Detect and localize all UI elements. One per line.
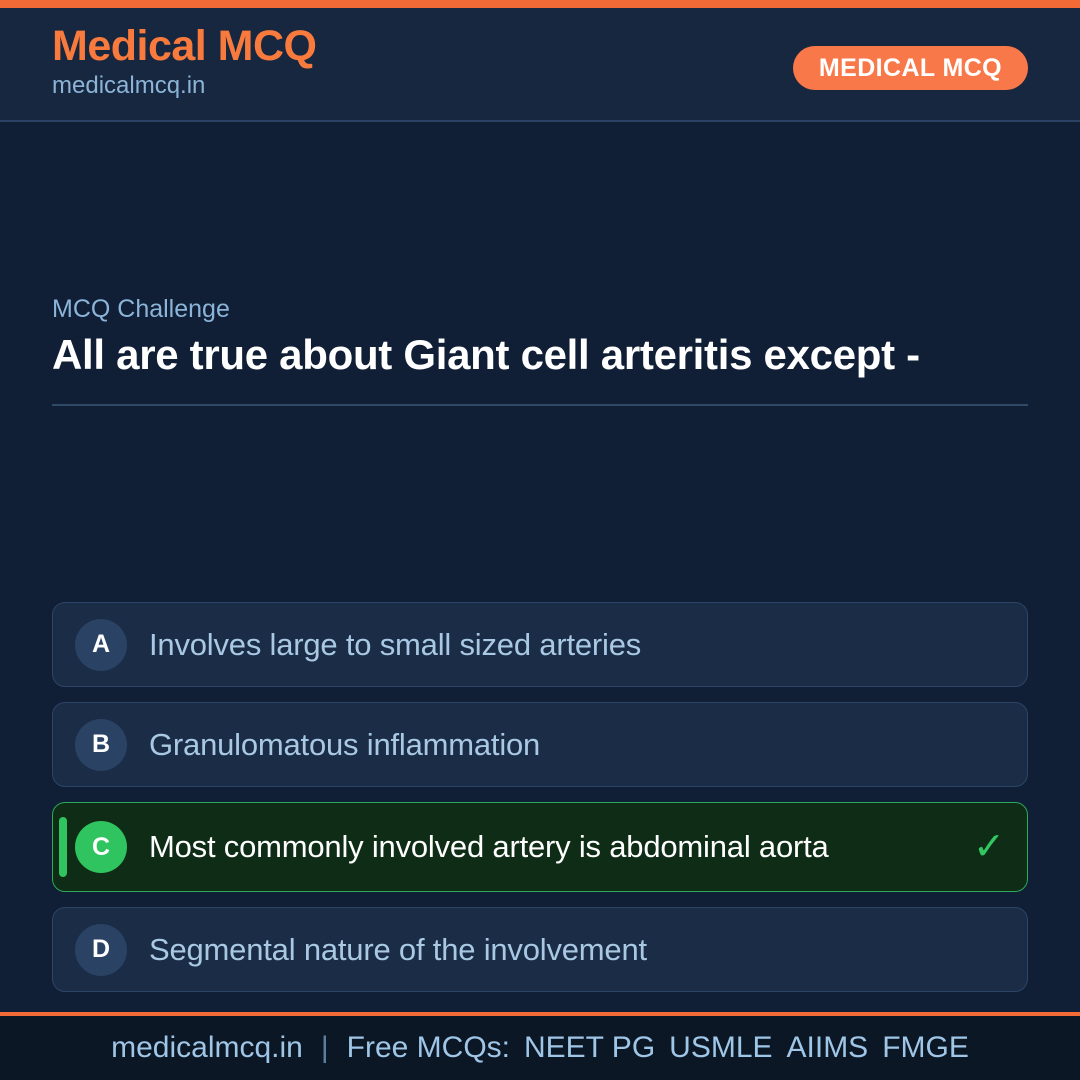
options-list: A Involves large to small sized arteries…: [52, 602, 1028, 1007]
brand-title: Medical MCQ: [52, 22, 317, 70]
option-row-b[interactable]: B Granulomatous inflammation ✓: [52, 702, 1028, 787]
option-letter-badge: A: [75, 619, 127, 671]
option-label: Most commonly involved artery is abdomin…: [149, 829, 829, 864]
footer-exam-usmle[interactable]: USMLE: [655, 1031, 772, 1065]
main-content: MCQ Challenge All are true about Giant c…: [0, 124, 1080, 1012]
footer-exam-aiims[interactable]: AIIMS: [773, 1031, 869, 1065]
option-letter-badge: D: [75, 924, 127, 976]
option-row-c[interactable]: C Most commonly involved artery is abdom…: [52, 802, 1028, 892]
footer-label: Free MCQs:: [347, 1031, 510, 1065]
header-badge: MEDICAL MCQ: [793, 46, 1028, 90]
question-block: MCQ Challenge All are true about Giant c…: [52, 294, 1028, 406]
option-row-a[interactable]: A Involves large to small sized arteries…: [52, 602, 1028, 687]
option-letter-badge: C: [75, 821, 127, 873]
option-label: Segmental nature of the involvement: [149, 932, 647, 967]
correct-accent-bar: [59, 817, 67, 877]
footer-exam-neet-pg[interactable]: NEET PG: [510, 1031, 655, 1065]
footer-exam-fmge[interactable]: FMGE: [868, 1031, 969, 1065]
option-row-d[interactable]: D Segmental nature of the involvement ✓: [52, 907, 1028, 992]
option-label: Granulomatous inflammation: [149, 727, 540, 762]
top-accent-strip: [0, 0, 1080, 8]
question-eyebrow: MCQ Challenge: [52, 294, 1028, 325]
page-header: Medical MCQ medicalmcq.in MEDICAL MCQ: [0, 8, 1080, 122]
footer-separator: |: [303, 1031, 347, 1065]
question-divider: [52, 404, 1028, 406]
option-letter-badge: B: [75, 719, 127, 771]
option-label: Involves large to small sized arteries: [149, 627, 641, 662]
footer-content: medicalmcq.in | Free MCQs: NEET PG USMLE…: [111, 1031, 969, 1065]
question-title: All are true about Giant cell arteritis …: [52, 329, 932, 382]
page-footer: medicalmcq.in | Free MCQs: NEET PG USMLE…: [0, 1012, 1080, 1080]
brand-subtitle: medicalmcq.in: [52, 72, 317, 101]
brand-block: Medical MCQ medicalmcq.in: [52, 22, 317, 101]
footer-site-link[interactable]: medicalmcq.in: [111, 1031, 303, 1065]
check-icon: ✓: [973, 828, 1005, 866]
